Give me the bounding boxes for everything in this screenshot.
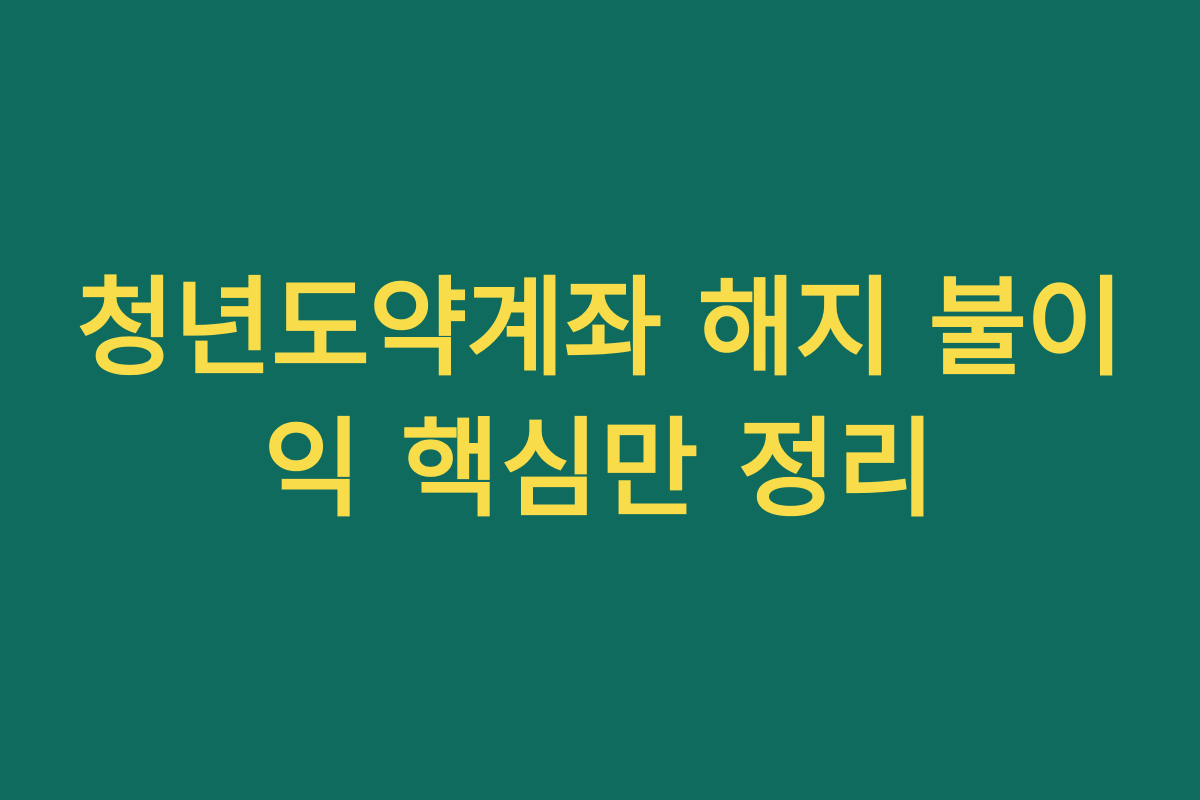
headline-line-1: 청년도약계좌 해지 불이 xyxy=(77,259,1124,400)
headline-block: 청년도약계좌 해지 불이 익 핵심만 정리 xyxy=(70,259,1130,541)
headline-line-2: 익 핵심만 정리 xyxy=(263,400,936,541)
text-card-canvas: 청년도약계좌 해지 불이 익 핵심만 정리 xyxy=(0,0,1200,800)
